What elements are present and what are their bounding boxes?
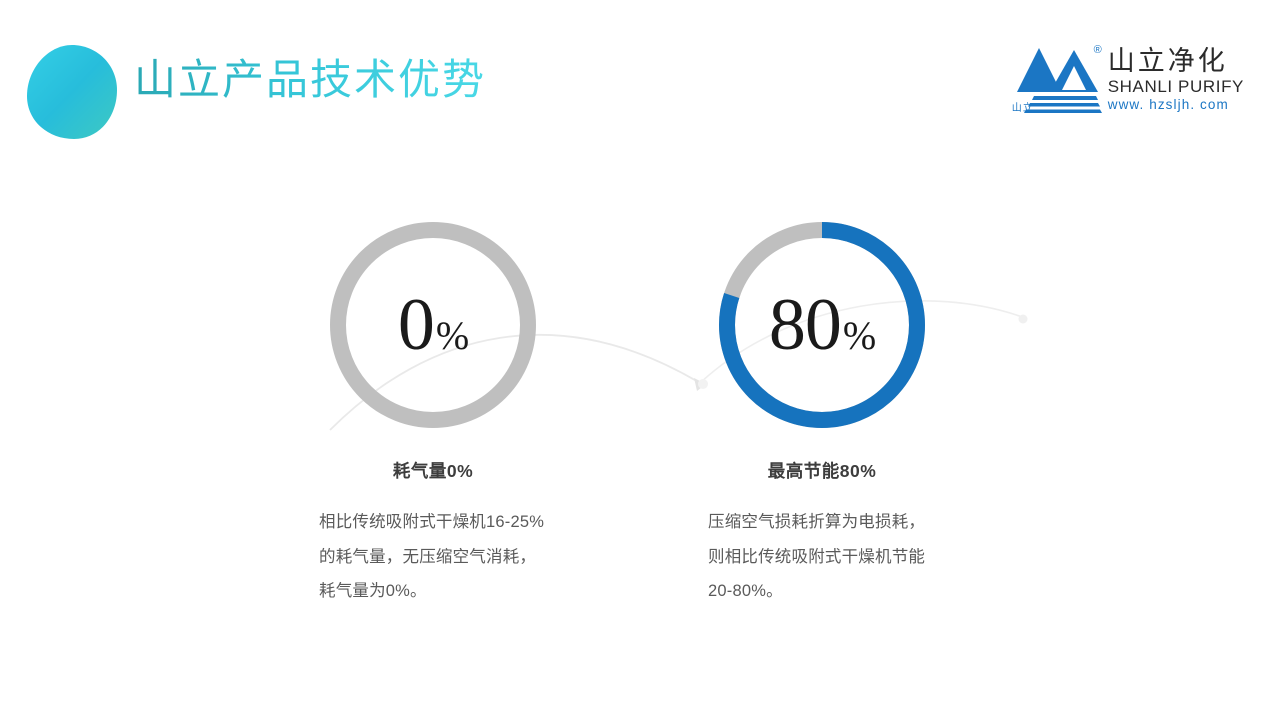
donut-value-text-0: 0 % bbox=[398, 288, 468, 362]
donut-center-label-0: 0 % bbox=[326, 218, 540, 432]
donut-number-0: 0 bbox=[398, 288, 434, 362]
donut-center-label-1: 80 % bbox=[715, 218, 929, 432]
donut-chart-1: 80 % bbox=[715, 218, 929, 432]
chart-stage: 0 % 耗气量0% 相比传统吸附式干燥机16-25%的耗气量，无压缩空气消耗，耗… bbox=[0, 0, 1280, 720]
metric-card-1: 80 % 最高节能80% 压缩空气损耗折算为电损耗，则相比传统吸附式干燥机节能2… bbox=[672, 218, 972, 609]
metric-card-0: 0 % 耗气量0% 相比传统吸附式干燥机16-25%的耗气量，无压缩空气消耗，耗… bbox=[283, 218, 583, 609]
donut-percent-sign-1: % bbox=[843, 316, 875, 356]
donut-value-text-1: 80 % bbox=[769, 288, 875, 362]
donut-percent-sign-0: % bbox=[436, 316, 468, 356]
donut-chart-0: 0 % bbox=[326, 218, 540, 432]
metric-caption-0: 耗气量0% bbox=[283, 458, 583, 483]
decorative-swooshes bbox=[0, 0, 1280, 720]
metric-caption-1: 最高节能80% bbox=[672, 458, 972, 483]
metric-description-0: 相比传统吸附式干燥机16-25%的耗气量，无压缩空气消耗，耗气量为0%。 bbox=[319, 505, 547, 609]
swoosh-endpoint-dot bbox=[1019, 315, 1028, 324]
donut-number-1: 80 bbox=[769, 288, 841, 362]
metric-description-1: 压缩空气损耗折算为电损耗，则相比传统吸附式干燥机节能20-80%。 bbox=[708, 505, 936, 609]
